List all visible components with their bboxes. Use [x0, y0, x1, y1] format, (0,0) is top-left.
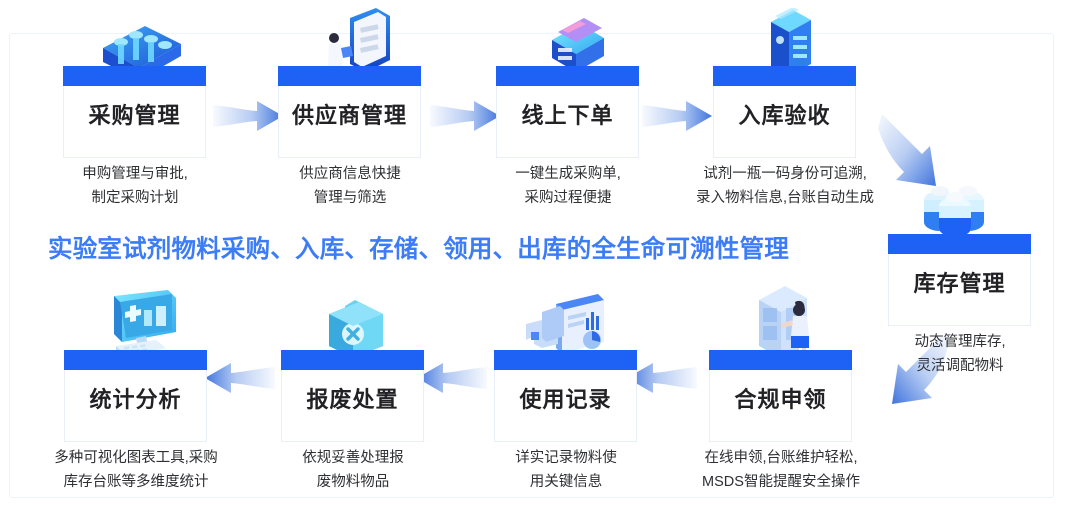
step-card-statistical-analysis[interactable]: 统计分析 多种可视化图表工具,采购 库存台账等多维度统计	[64, 350, 207, 442]
card-body: 采购管理	[63, 86, 206, 158]
card-body: 报废处置	[281, 370, 424, 442]
step-card-online-order[interactable]: 线上下单 一键生成采购单, 采购过程便捷	[496, 66, 639, 158]
card-body: 合规申领	[709, 370, 852, 442]
card-body: 库存管理	[888, 254, 1031, 326]
card-title: 合规申领	[710, 382, 851, 414]
card-accent-bar	[713, 66, 856, 86]
step-card-inbound-acceptance[interactable]: 入库验收 试剂一瓶一码身份可追溯, 录入物料信息,台账自动生成	[713, 66, 856, 158]
banner-headline: 实验室试剂物料采购、入库、存储、领用、出库的全生命可溯性管理	[48, 230, 789, 265]
arrow-right-2	[430, 96, 502, 136]
card-description-line2: 管理与筛选	[260, 186, 440, 210]
card-description-line2: 灵活调配物料	[870, 354, 1050, 378]
card-description-line1: 动态管理库存,	[870, 330, 1050, 354]
card-description-line1: 一键生成采购单,	[478, 162, 658, 186]
step-card-scrap-disposal[interactable]: 报废处置 依规妥善处理报 废物料物品	[281, 350, 424, 442]
card-description-line2: MSDS智能提醒安全操作	[667, 470, 895, 494]
card-accent-bar	[496, 66, 639, 86]
card-accent-bar	[278, 66, 421, 86]
card-body: 统计分析	[64, 370, 207, 442]
card-description-line1: 依规妥善处理报	[263, 446, 443, 470]
card-description-line2: 制定采购计划	[45, 186, 225, 210]
card-description-line1: 申购管理与审批,	[45, 162, 225, 186]
card-description: 一键生成采购单, 采购过程便捷	[478, 162, 658, 210]
card-description-line1: 详实记录物料使	[476, 446, 656, 470]
card-body: 线上下单	[496, 86, 639, 158]
arrow-right-1	[213, 96, 285, 136]
card-accent-bar	[281, 350, 424, 370]
card-title: 入库验收	[714, 98, 855, 130]
step-card-compliant-requisition[interactable]: 合规申领 在线申领,台账维护轻松, MSDS智能提醒安全操作	[709, 350, 852, 442]
card-title: 统计分析	[65, 382, 206, 414]
card-description-line1: 试剂一瓶一码身份可追溯,	[671, 162, 899, 186]
arrow-left-7	[415, 358, 487, 398]
arrow-left-8	[203, 358, 275, 398]
card-description: 详实记录物料使 用关键信息	[476, 446, 656, 494]
card-accent-bar	[494, 350, 637, 370]
card-title: 线上下单	[497, 98, 638, 130]
card-body: 供应商管理	[278, 86, 421, 158]
card-body: 使用记录	[494, 370, 637, 442]
card-title: 采购管理	[64, 98, 205, 130]
step-card-supplier-management[interactable]: 供应商管理 供应商信息快捷 管理与筛选	[278, 66, 421, 158]
card-description-line2: 采购过程便捷	[478, 186, 658, 210]
card-accent-bar	[709, 350, 852, 370]
card-accent-bar	[888, 234, 1031, 254]
card-description-line2: 废物料物品	[263, 470, 443, 494]
card-description: 多种可视化图表工具,采购 库存台账等多维度统计	[22, 446, 250, 494]
card-description-line2: 库存台账等多维度统计	[22, 470, 250, 494]
card-description-line2: 用关键信息	[476, 470, 656, 494]
step-card-inventory-management[interactable]: 库存管理 动态管理库存, 灵活调配物料	[888, 234, 1031, 326]
card-title: 报废处置	[282, 382, 423, 414]
card-description: 试剂一瓶一码身份可追溯, 录入物料信息,台账自动生成	[671, 162, 899, 210]
arrow-right-3	[642, 96, 714, 136]
step-card-usage-record[interactable]: 使用记录 详实记录物料使 用关键信息	[494, 350, 637, 442]
card-title: 使用记录	[495, 382, 636, 414]
card-description: 供应商信息快捷 管理与筛选	[260, 162, 440, 210]
card-description-line1: 供应商信息快捷	[260, 162, 440, 186]
card-title: 库存管理	[889, 266, 1030, 298]
card-title: 供应商管理	[279, 98, 420, 130]
card-description: 依规妥善处理报 废物料物品	[263, 446, 443, 494]
card-description: 在线申领,台账维护轻松, MSDS智能提醒安全操作	[667, 446, 895, 494]
step-card-purchase-management[interactable]: 采购管理 申购管理与审批, 制定采购计划	[63, 66, 206, 158]
infographic-root: 实验室试剂物料采购、入库、存储、领用、出库的全生命可溯性管理 采购管理 申购管理…	[0, 0, 1073, 518]
card-accent-bar	[64, 350, 207, 370]
card-body: 入库验收	[713, 86, 856, 158]
card-accent-bar	[63, 66, 206, 86]
card-description-line2: 录入物料信息,台账自动生成	[671, 186, 899, 210]
card-description-line1: 多种可视化图表工具,采购	[22, 446, 250, 470]
card-description-line1: 在线申领,台账维护轻松,	[667, 446, 895, 470]
card-description: 申购管理与审批, 制定采购计划	[45, 162, 225, 210]
card-description: 动态管理库存, 灵活调配物料	[870, 330, 1050, 378]
